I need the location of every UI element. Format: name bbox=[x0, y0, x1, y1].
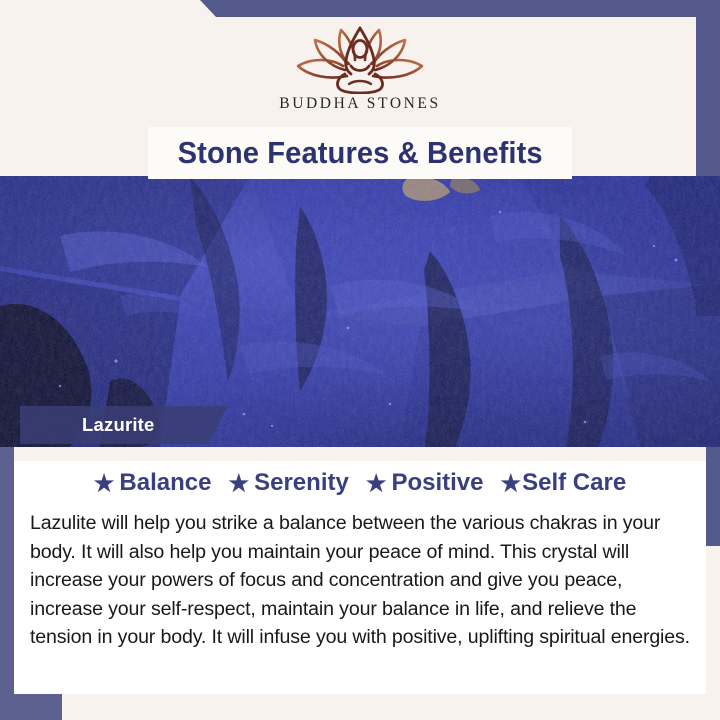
benefit-item-positive: ★ Positive bbox=[366, 469, 484, 497]
benefit-label: Positive bbox=[391, 469, 483, 497]
benefit-item-balance: ★ Balance bbox=[94, 469, 212, 497]
brand-header: BUDDHA STONES bbox=[0, 17, 720, 123]
stone-name-banner: Lazurite bbox=[20, 406, 228, 444]
decor-bottom-navy-strip bbox=[0, 694, 62, 720]
stone-description: Lazulite will help you strike a balance … bbox=[30, 509, 690, 652]
star-icon: ★ bbox=[501, 472, 522, 495]
page-title-band: Stone Features & Benefits bbox=[148, 127, 572, 179]
description-panel: ★ Balance ★ Serenity ★ Positive ★ Self C… bbox=[14, 447, 706, 694]
star-icon: ★ bbox=[366, 472, 387, 495]
star-icon: ★ bbox=[94, 472, 115, 495]
star-icon: ★ bbox=[228, 472, 249, 495]
stone-info-card: BUDDHA STONES Stone Features & Benefits bbox=[0, 0, 720, 720]
benefit-label: Self Care bbox=[522, 469, 626, 497]
lotus-meditation-icon bbox=[285, 22, 435, 94]
brand-wordmark: BUDDHA STONES bbox=[279, 95, 440, 113]
benefit-label: Balance bbox=[119, 469, 211, 497]
panel-top-accent bbox=[14, 447, 706, 461]
decor-left-navy-strip bbox=[0, 438, 14, 720]
benefit-label: Serenity bbox=[254, 469, 349, 497]
benefits-list: ★ Balance ★ Serenity ★ Positive ★ Self C… bbox=[14, 469, 706, 497]
page-title: Stone Features & Benefits bbox=[177, 135, 542, 171]
stone-name: Lazurite bbox=[82, 414, 155, 436]
decor-top-navy-band bbox=[0, 0, 720, 17]
benefit-item-self-care: ★ Self Care bbox=[501, 469, 627, 497]
benefit-item-serenity: ★ Serenity bbox=[228, 469, 348, 497]
